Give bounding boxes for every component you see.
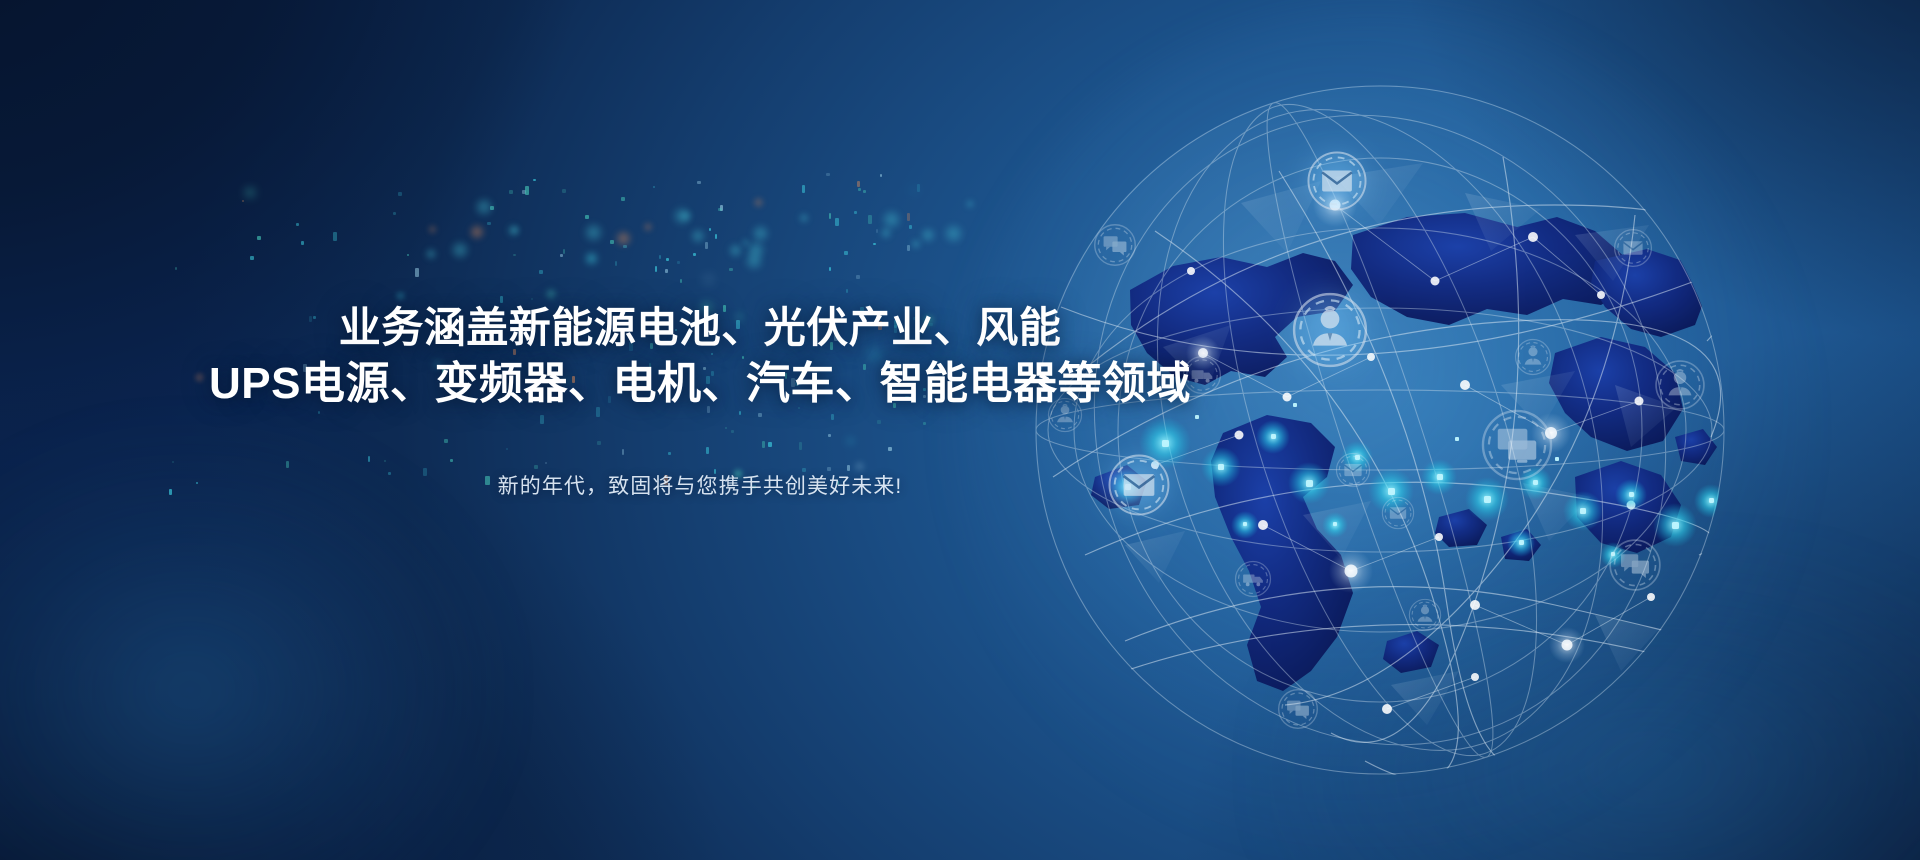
banner-copy: 业务涵盖新能源电池、光伏产业、风能 UPS电源、变频器、电机、汽车、智能电器等领…: [0, 300, 1400, 500]
headline-line-2: UPS电源、变频器、电机、汽车、智能电器等领域: [209, 359, 1191, 408]
mail-icon: [1613, 228, 1653, 268]
mail-icon-glyph: [1390, 507, 1406, 519]
user-icon: [1514, 338, 1552, 376]
user-icon-glyph: [1525, 346, 1542, 365]
shipping-icon-glyph: [1243, 574, 1263, 586]
mail-icon-glyph: [1623, 241, 1642, 255]
user-icon-glyph: [1669, 370, 1692, 395]
banner-subtitle: 新的年代，致固将与您携手共创美好未来!: [0, 470, 1400, 500]
user-icon: [1654, 359, 1706, 411]
user-icon-glyph: [1418, 605, 1433, 622]
mail-icon: [1306, 150, 1368, 212]
chat-icon-glyph: [1104, 236, 1127, 255]
monitor-icon: [1480, 408, 1554, 482]
chat-icon: [1093, 223, 1137, 267]
headline-line-1: 业务涵盖新能源电池、光伏产业、风能: [339, 304, 1062, 351]
mail-icon: [1381, 496, 1415, 530]
page-title: 业务涵盖新能源电池、光伏产业、风能 UPS电源、变频器、电机、汽车、智能电器等领…: [0, 300, 1400, 414]
chat-icon: [1608, 538, 1662, 592]
monitor-icon-glyph: [1498, 429, 1536, 463]
chat-icon: [1277, 688, 1319, 730]
shipping-icon: [1234, 560, 1272, 598]
chat-icon-glyph: [1287, 701, 1309, 719]
mail-icon-glyph: [1322, 170, 1352, 191]
chat-icon-glyph: [1621, 554, 1649, 578]
user-icon: [1408, 598, 1442, 632]
hero-banner: 业务涵盖新能源电池、光伏产业、风能 UPS电源、变频器、电机、汽车、智能电器等领…: [0, 0, 1920, 860]
